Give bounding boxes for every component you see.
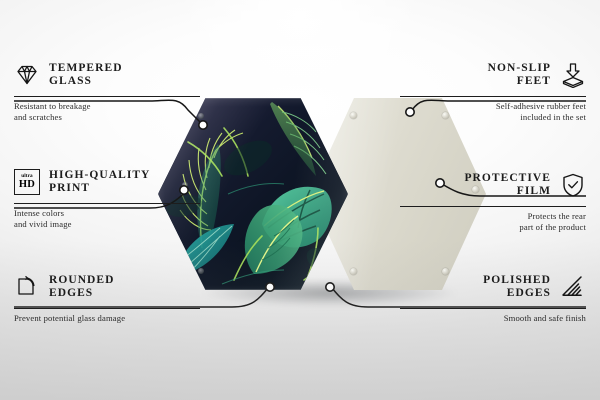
hd-label: HD xyxy=(19,180,35,191)
feature-desc-line1: Self-adhesive rubber feet xyxy=(400,101,586,112)
feature-non-slip-feet[interactable]: NON-SLIP FEET Self-adhesive rubber feet … xyxy=(400,58,586,122)
feature-desc-line1: Resistant to breakage xyxy=(14,101,200,112)
feature-divider xyxy=(14,96,200,97)
feature-desc-line2: and vivid image xyxy=(14,219,200,230)
feature-header: NON-SLIP FEET xyxy=(400,58,586,92)
feature-desc-line1: Smooth and safe finish xyxy=(400,313,586,324)
feature-high-quality-print[interactable]: ultra HD HIGH-QUALITY PRINT Intense colo… xyxy=(14,165,200,229)
ultra-hd-icon: ultra HD xyxy=(14,169,40,195)
feature-header: ultra HD HIGH-QUALITY PRINT xyxy=(14,165,200,199)
feature-divider xyxy=(14,308,200,309)
feature-header: POLISHED EDGES xyxy=(400,270,586,304)
feature-tempered-glass[interactable]: TEMPERED GLASS Resistant to breakage and… xyxy=(14,58,200,122)
feature-desc-line1: Intense colors xyxy=(14,208,200,219)
diamond-icon xyxy=(14,62,40,88)
feature-desc-line2: part of the product xyxy=(400,222,586,233)
hatched-triangle-icon xyxy=(560,274,586,300)
feature-title: PROTECTIVE FILM xyxy=(464,172,551,199)
feature-title: TEMPERED GLASS xyxy=(49,62,123,89)
shield-check-icon xyxy=(560,172,586,198)
feature-title: ROUNDED EDGES xyxy=(49,274,115,301)
rubber-foot xyxy=(350,268,357,275)
rubber-foot xyxy=(350,112,357,119)
feature-desc-line2: included in the set xyxy=(400,112,586,123)
infographic-canvas: TEMPERED GLASS Resistant to breakage and… xyxy=(0,0,600,400)
feature-desc-line2: and scratches xyxy=(14,112,200,123)
feature-title: NON-SLIP FEET xyxy=(488,62,551,89)
feature-header: TEMPERED GLASS xyxy=(14,58,200,92)
feature-desc-line1: Protects the rear xyxy=(400,211,586,222)
feature-polished-edges[interactable]: POLISHED EDGES Smooth and safe finish xyxy=(400,270,586,324)
press-down-pad-icon xyxy=(560,62,586,88)
feature-divider xyxy=(14,203,200,204)
feature-protective-film[interactable]: PROTECTIVE FILM Protects the rear part o… xyxy=(400,168,586,232)
feature-header: PROTECTIVE FILM xyxy=(400,168,586,202)
rounded-corner-icon xyxy=(14,274,40,300)
feature-header: ROUNDED EDGES xyxy=(14,270,200,304)
feature-desc-line1: Prevent potential glass damage xyxy=(14,313,200,324)
feature-divider xyxy=(400,206,586,207)
feature-rounded-edges[interactable]: ROUNDED EDGES Prevent potential glass da… xyxy=(14,270,200,324)
feature-divider xyxy=(400,308,586,309)
feature-title: POLISHED EDGES xyxy=(483,274,551,301)
feature-divider xyxy=(400,96,586,97)
feature-title: HIGH-QUALITY PRINT xyxy=(49,169,150,196)
